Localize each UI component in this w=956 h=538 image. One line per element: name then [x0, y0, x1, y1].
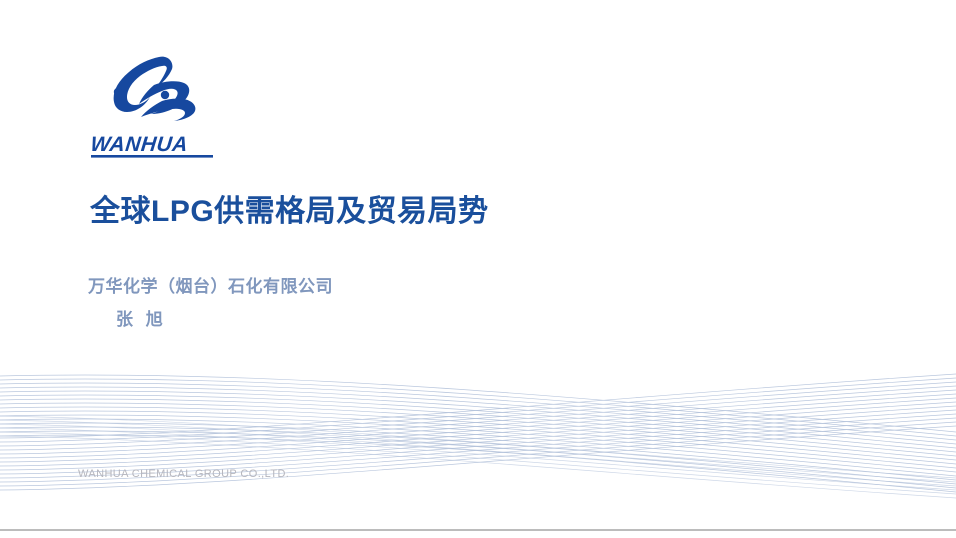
- wordmark-underline: [91, 155, 213, 158]
- bottom-divider: [0, 529, 956, 531]
- presenter-block: 万华化学（烟台）石化有限公司 张 旭: [88, 278, 333, 328]
- presentation-slide: WANHUA 全球LPG供需格局及贸易局势 万华化学（烟台）石化有限公司 张 旭…: [0, 0, 956, 538]
- wanhua-bird-logo-icon: [102, 55, 198, 127]
- page-title: 全球LPG供需格局及贸易局势: [90, 186, 489, 230]
- wave-bundle-tail: [0, 416, 956, 498]
- presenter-name: 张 旭: [116, 311, 333, 328]
- wave-lines-svg: [0, 360, 956, 510]
- footer-company-text: WANHUA CHEMICAL GROUP CO.,LTD.: [78, 468, 289, 480]
- company-name: 万华化学（烟台）石化有限公司: [88, 278, 333, 295]
- wordmark-text: WANHUA: [90, 133, 189, 156]
- wanhua-logo: WANHUA: [90, 55, 270, 161]
- decorative-wave-band: [0, 360, 956, 510]
- wanhua-wordmark-icon: WANHUA: [90, 131, 216, 161]
